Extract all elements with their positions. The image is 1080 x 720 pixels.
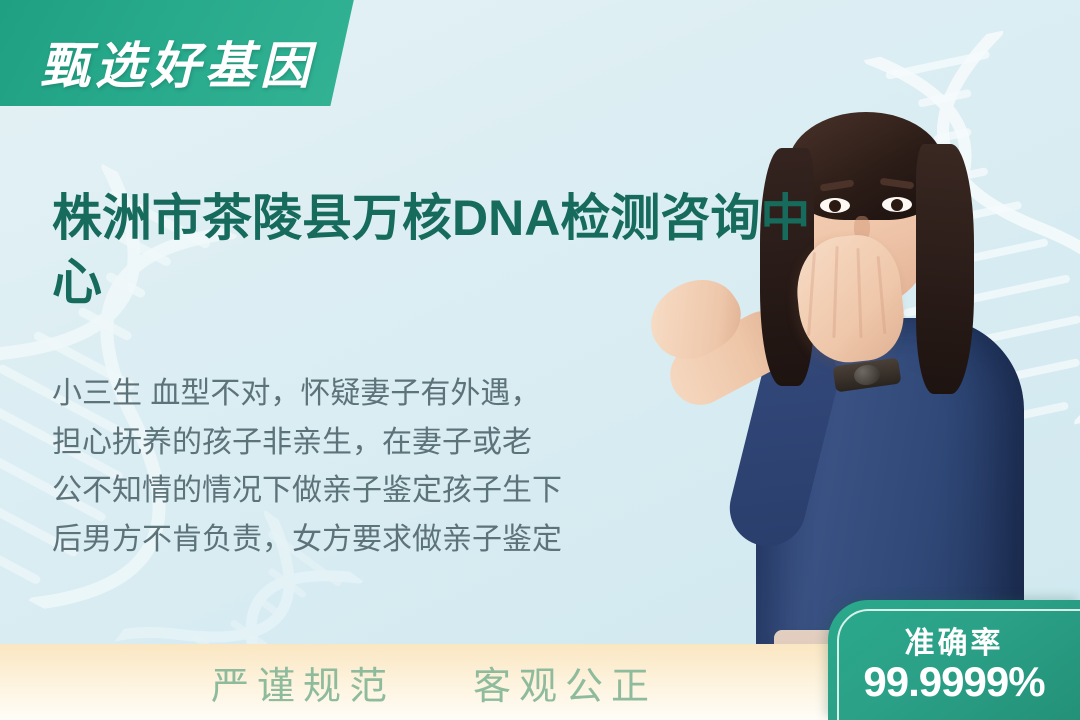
description-line: 后男方不肯负责，女方要求做亲子鉴定 xyxy=(52,516,692,565)
hair-right-strand xyxy=(916,144,974,394)
woman-photo xyxy=(648,70,1080,660)
slogan-item: 客观公正 xyxy=(473,655,657,710)
slogan-list: 严谨规范 客观公正 xyxy=(0,644,828,720)
description-line: 公不知情的情况下做亲子鉴定孩子生下 xyxy=(52,467,692,516)
accuracy-value: 99.9999% xyxy=(828,658,1080,706)
accuracy-label: 准确率 xyxy=(828,618,1080,662)
description-block: 小三生 血型不对，怀疑妻子有外遇， 担心抚养的孩子非亲生，在妻子或老 公不知情的… xyxy=(52,370,692,564)
brand-ribbon-text: 甄选好基因 xyxy=(40,26,315,98)
pupil-right xyxy=(891,199,903,211)
pupil-left xyxy=(829,200,841,212)
poster-root: 甄选好基因 株洲市茶陵县万核DNA检测咨询中心 小三生 血型不对，怀疑妻子有外遇… xyxy=(0,0,1080,720)
slogan-item: 严谨规范 xyxy=(211,655,395,710)
eye-right xyxy=(882,197,912,212)
accuracy-badge: 准确率 99.9999% xyxy=(828,600,1080,720)
description-line: 担心抚养的孩子非亲生，在妻子或老 xyxy=(52,419,692,468)
page-title: 株洲市茶陵县万核DNA检测咨询中心 xyxy=(52,186,822,314)
eye-left xyxy=(820,198,850,213)
description-line: 小三生 血型不对，怀疑妻子有外遇， xyxy=(52,370,692,419)
